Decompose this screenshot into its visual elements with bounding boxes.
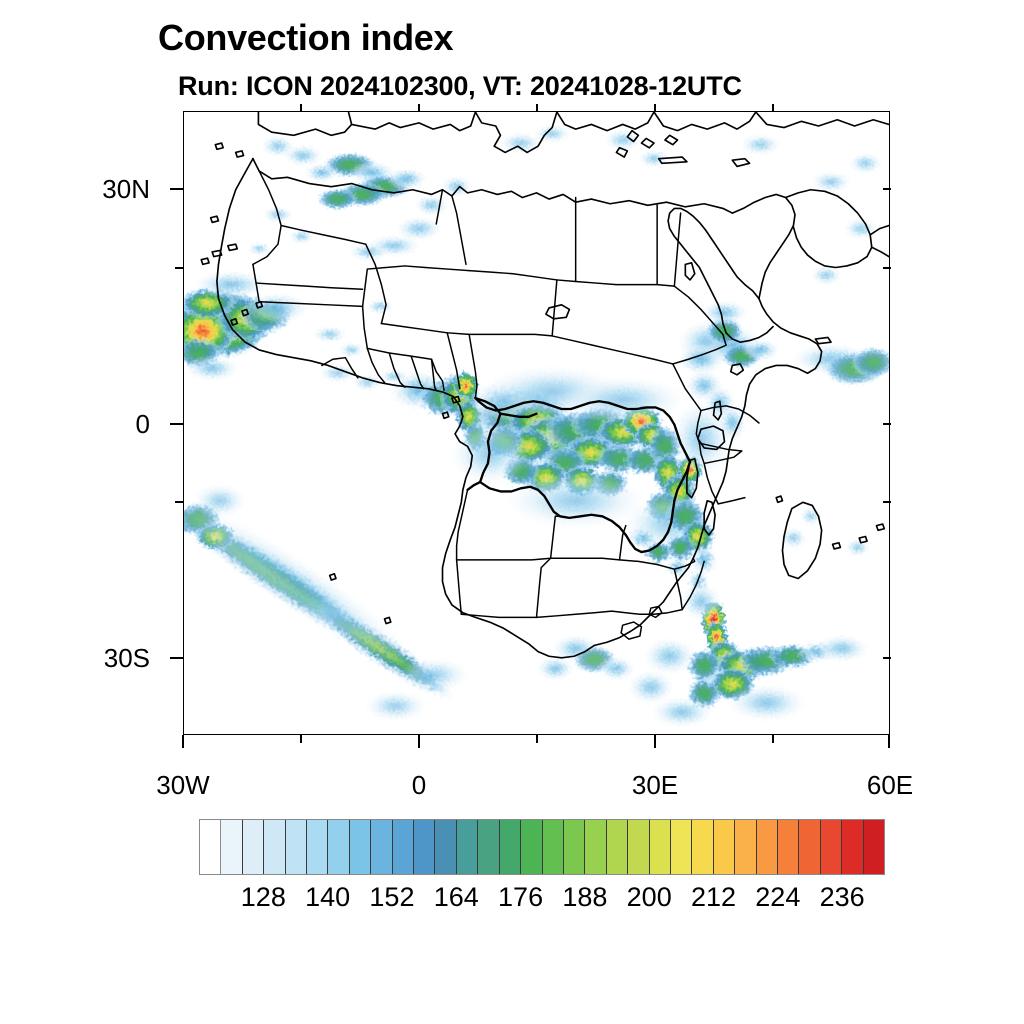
xtick-top-45E xyxy=(772,104,774,112)
ytick-30N xyxy=(170,188,183,190)
ytick-0 xyxy=(170,423,183,425)
colorbar-cell xyxy=(307,820,328,874)
colorbar-cell xyxy=(435,820,456,874)
colorbar-cell xyxy=(692,820,713,874)
ytick-right-0 xyxy=(883,423,891,425)
xtick-top-15E xyxy=(536,104,538,112)
ytick-right-30S xyxy=(883,657,891,659)
xtick-15W xyxy=(300,735,302,743)
colorbar-cell xyxy=(585,820,606,874)
colorbar-tick-label: 200 xyxy=(627,882,672,912)
ytick-15S xyxy=(175,501,183,503)
colorbar-cell xyxy=(286,820,307,874)
colorbar-cell xyxy=(564,820,585,874)
colorbar-cell xyxy=(350,820,371,874)
colorbar-cell xyxy=(757,820,778,874)
colorbar-cell xyxy=(457,820,478,874)
colorbar-tick-label: 164 xyxy=(434,882,479,912)
ytick-15N xyxy=(175,267,183,269)
xtick-30W xyxy=(182,735,184,748)
colorbar-tick-label: 176 xyxy=(498,882,543,912)
colorbar-cell xyxy=(735,820,756,874)
xtick-label-60E: 60E xyxy=(820,772,960,798)
map-clip xyxy=(184,112,889,734)
xtick-label-30W: 30W xyxy=(113,772,253,798)
colorbar-cell xyxy=(714,820,735,874)
colorbar-tick-label: 128 xyxy=(241,882,286,912)
convection-index-figure: Convection index Run: ICON 2024102300, V… xyxy=(0,0,1024,1024)
xtick-label-0: 0 xyxy=(349,772,489,798)
xtick-top-15W xyxy=(300,104,302,112)
colorbar-cell xyxy=(778,820,799,874)
map-plot-area xyxy=(183,111,890,735)
colorbar-cell xyxy=(607,820,628,874)
xtick-30E xyxy=(654,735,656,748)
xtick-top-30E xyxy=(654,104,656,112)
xtick-15E xyxy=(536,735,538,743)
colorbar-cell xyxy=(200,820,221,874)
colorbar-cell xyxy=(500,820,521,874)
ytick-30S xyxy=(170,657,183,659)
ytick-label-30S: 30S xyxy=(20,645,150,671)
xtick-60E xyxy=(888,735,890,748)
colorbar-cell xyxy=(864,820,884,874)
colorbar-cell xyxy=(543,820,564,874)
colorbar-cell xyxy=(821,820,842,874)
colorbar-tick-label: 224 xyxy=(755,882,800,912)
colorbar xyxy=(199,819,885,875)
ytick-label-0: 0 xyxy=(20,411,150,437)
xtick-45E xyxy=(772,735,774,743)
colorbar-tick-label: 188 xyxy=(562,882,607,912)
colorbar-cell xyxy=(650,820,671,874)
colorbar-cell xyxy=(671,820,692,874)
colorbar-cell xyxy=(264,820,285,874)
xtick-label-30E: 30E xyxy=(585,772,725,798)
figure-subtitle: Run: ICON 2024102300, VT: 20241028-12UTC xyxy=(178,70,742,102)
colorbar-cell xyxy=(799,820,820,874)
ytick-right-15N xyxy=(883,267,891,269)
ytick-right-30N xyxy=(883,188,891,190)
page-title: Convection index xyxy=(158,18,453,58)
colorbar-cell xyxy=(521,820,542,874)
xtick-0 xyxy=(418,735,420,748)
colorbar-tick-label: 152 xyxy=(369,882,414,912)
colorbar-tick-label: 236 xyxy=(820,882,865,912)
ytick-right-15S xyxy=(883,501,891,503)
colorbar-cell xyxy=(328,820,349,874)
xtick-top-0 xyxy=(418,104,420,112)
colorbar-tick-labels: 128140152164176188200212224236 xyxy=(199,882,885,916)
colorbar-tick-label: 140 xyxy=(305,882,350,912)
ytick-label-30N: 30N xyxy=(20,176,150,202)
colorbar-cell xyxy=(478,820,499,874)
colorbar-cell xyxy=(243,820,264,874)
colorbar-cell xyxy=(414,820,435,874)
colorbar-tick-label: 212 xyxy=(691,882,736,912)
map-svg xyxy=(184,112,889,734)
colorbar-cell xyxy=(221,820,242,874)
colorbar-cell xyxy=(371,820,392,874)
colorbar-cell xyxy=(842,820,863,874)
colorbar-cells xyxy=(199,819,885,875)
colorbar-cell xyxy=(393,820,414,874)
colorbar-cell xyxy=(628,820,649,874)
